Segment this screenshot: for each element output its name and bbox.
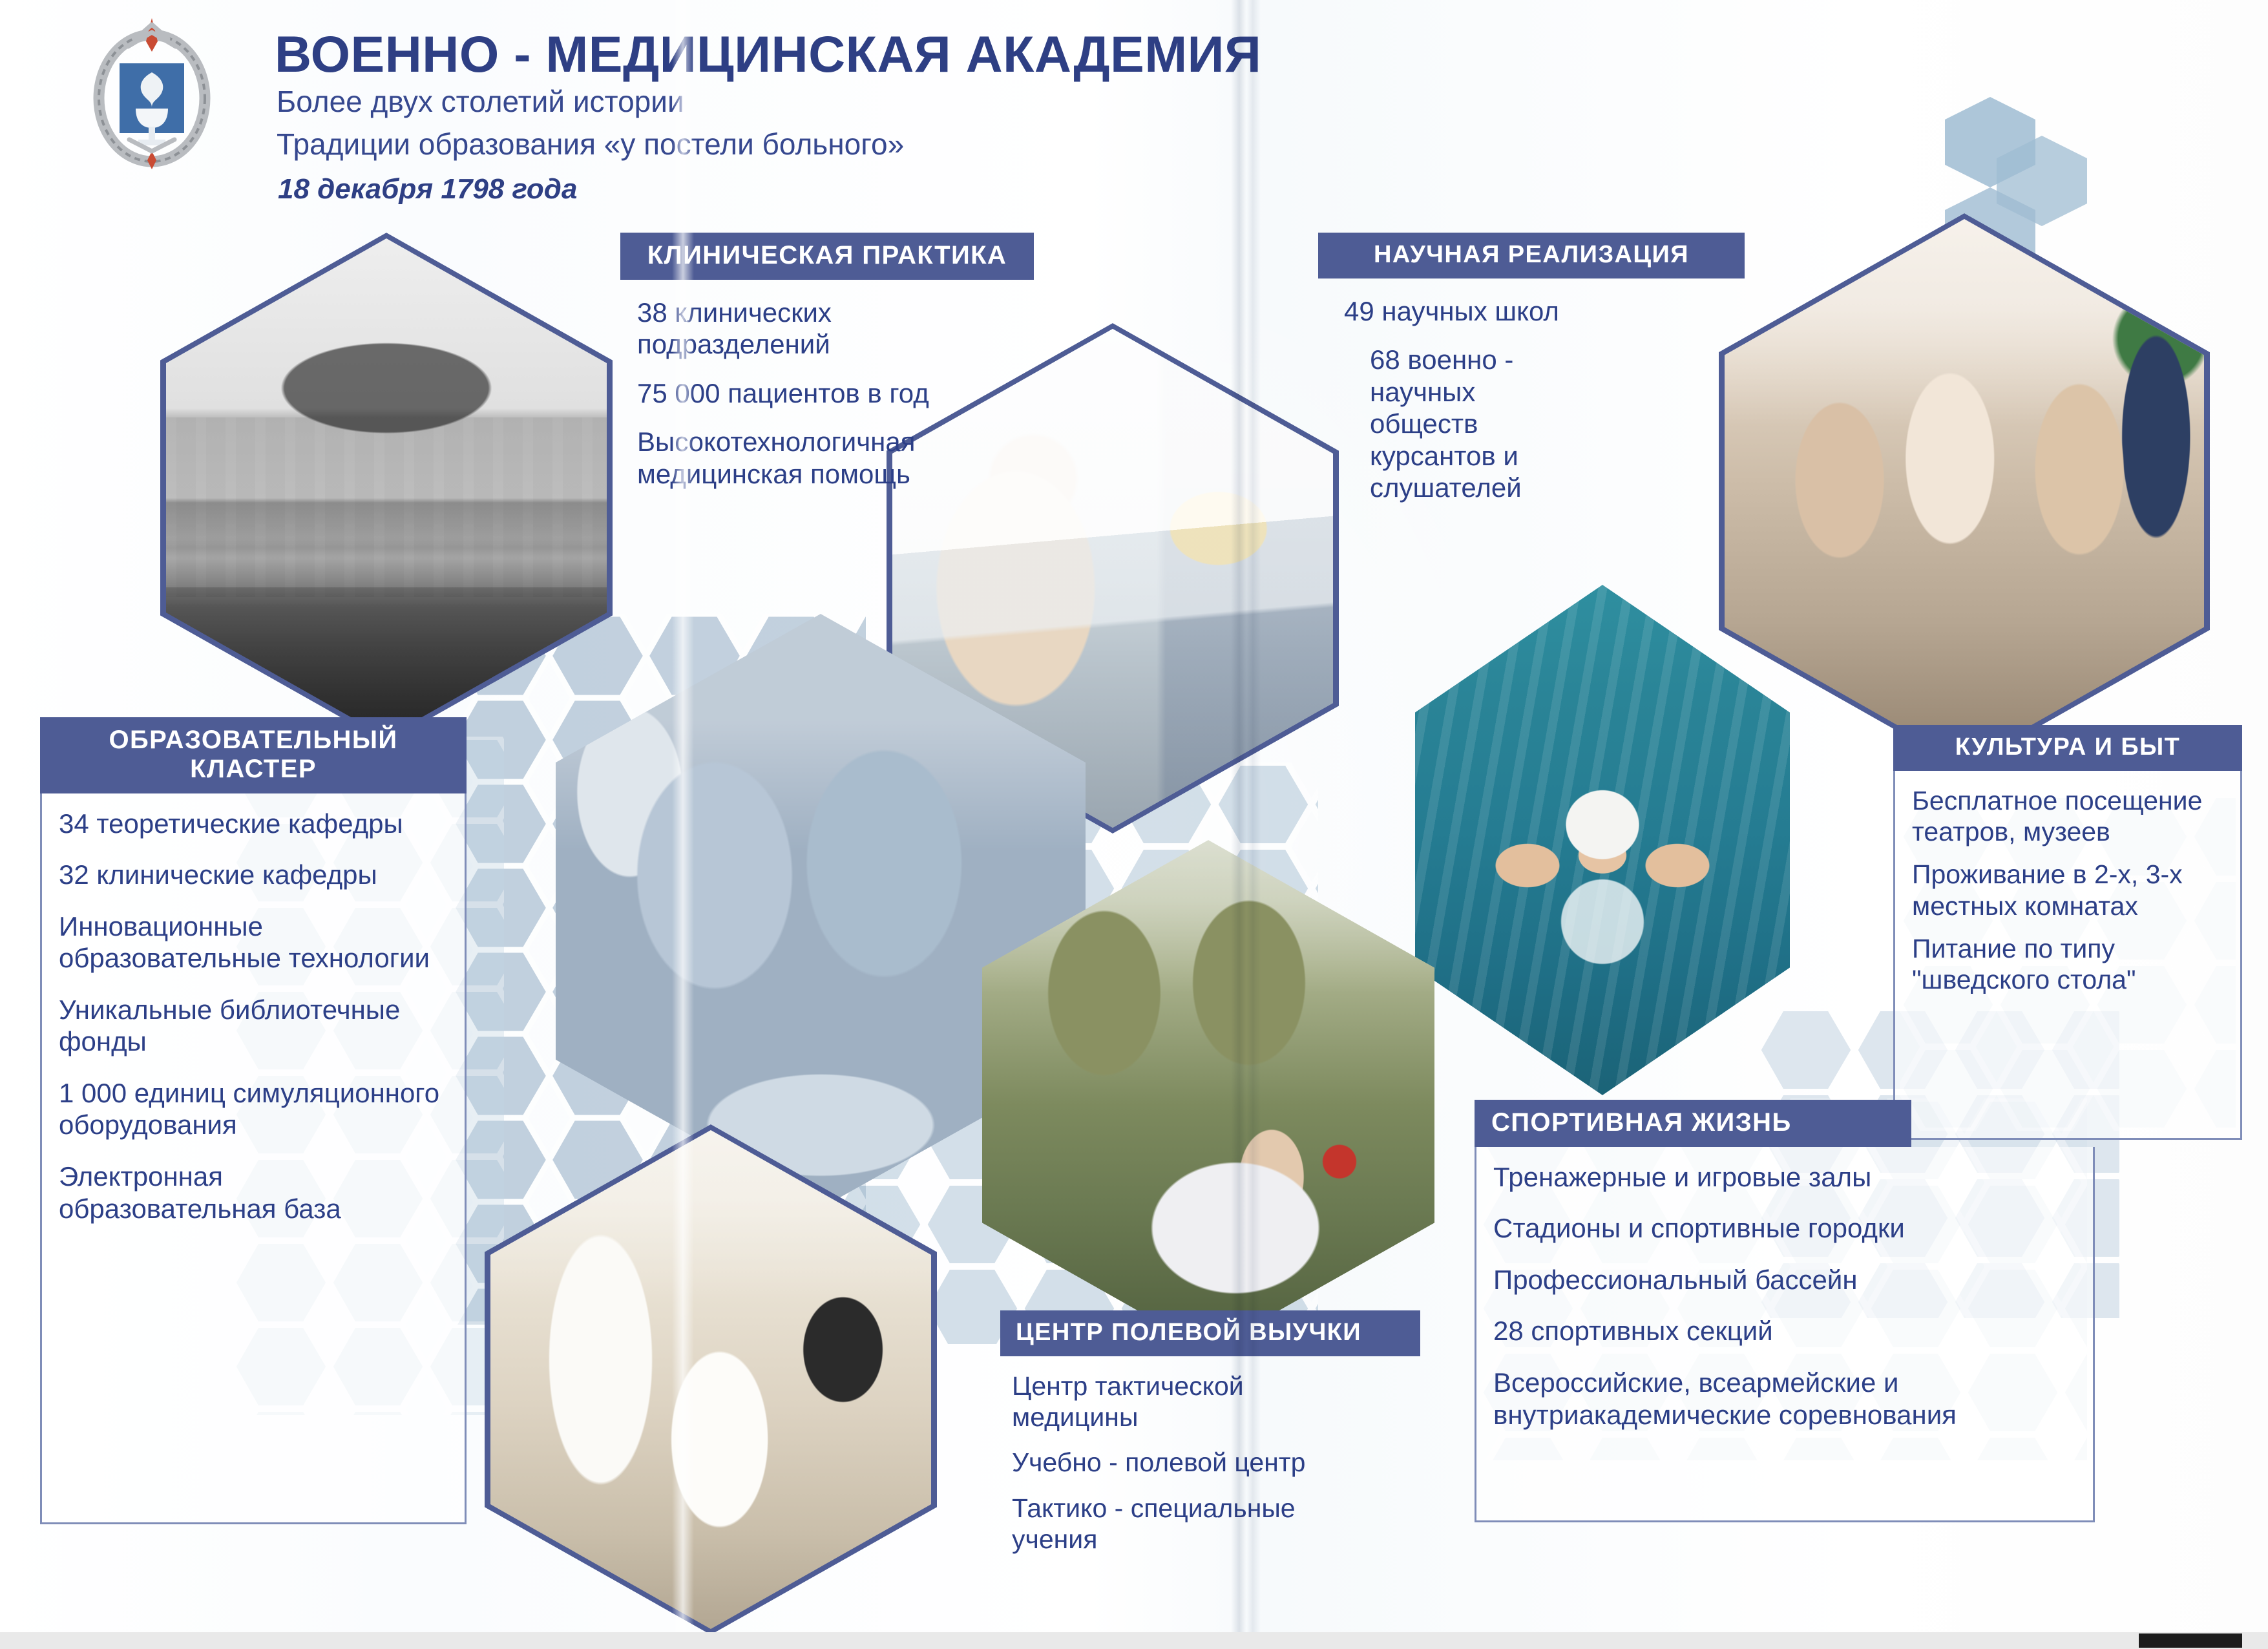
list-item: 49 научных школ [1344, 295, 1738, 328]
list-item: 34 теоретические кафедры [59, 808, 448, 840]
list-item: Всероссийские, всеармейские и внутриакад… [1493, 1367, 2030, 1431]
section-title-science: НАУЧНАЯ РЕАЛИЗАЦИЯ [1318, 233, 1745, 278]
list-item: Тактико - специальные учения [1012, 1493, 1322, 1555]
section-title-field: ЦЕНТР ПОЛЕВОЙ ВЫУЧКИ [1000, 1310, 1420, 1356]
section-title-culture: КУЛЬТУРА И БЫТ [1893, 725, 2242, 771]
photo-image [1725, 219, 2204, 763]
section-body-education: 34 теоретические кафедры 32 клинические … [40, 793, 467, 1524]
section-title-education-line2: КЛАСТЕР [190, 755, 317, 783]
list-item: Проживание в 2-х, 3-х местных комнатах [1912, 859, 2223, 921]
list-item: Электронная образовательная база [59, 1161, 448, 1224]
subtitle-history: Более двух столетий истории [277, 84, 684, 119]
photo-image [166, 238, 607, 737]
list-item: Профессиональный бассейн [1493, 1264, 2076, 1296]
poster-canvas: ВОЕННО - МЕДИЦИНСКАЯ АКАДЕМИЯ Более двух… [0, 0, 2268, 1649]
military-medical-academy-emblem [90, 13, 213, 174]
list-item: Бесплатное посещение театров, музеев [1912, 785, 2223, 848]
section-body-science: 49 научных школ 68 военно - научных обще… [1318, 278, 1745, 504]
section-educational-cluster: ОБРАЗОВАТЕЛЬНЫЙ КЛАСТЕР 34 теоретические… [40, 717, 467, 1524]
swimming-pool-athlete-photo [1415, 585, 1790, 1095]
list-item: 32 клинические кафедры [59, 859, 448, 891]
list-item: 1 000 единиц симуляционного оборудования [59, 1077, 448, 1141]
photo-image [490, 1130, 931, 1629]
section-body-field: Центр тактической медицины Учебно - поле… [1000, 1356, 1420, 1555]
list-item: 75 000 пациентов в год [637, 377, 1027, 410]
section-scientific-realization: НАУЧНАЯ РЕАЛИЗАЦИЯ 49 научных школ 68 во… [1318, 233, 1745, 504]
list-item: Инновационные образовательные технологии [59, 910, 448, 974]
section-body-sport: Тренажерные и игровые залы Стадионы и сп… [1475, 1147, 2095, 1522]
page-fold-left [672, 0, 694, 1649]
section-title-education-line1: ОБРАЗОВАТЕЛЬНЫЙ [109, 726, 397, 754]
list-item: Тренажерные и игровые залы [1493, 1161, 2076, 1193]
photo-image [1415, 585, 1790, 1095]
list-item: 38 клинических подразделений [637, 297, 1027, 361]
list-item: Учебно - полевой центр [1012, 1447, 1416, 1478]
founding-date: 18 декабря 1798 года [278, 173, 577, 205]
page-fold-center [1231, 0, 1261, 1649]
section-sport-life: СПОРТИВНАЯ ЖИЗНЬ Тренажерные и игровые з… [1475, 1100, 2095, 1522]
list-item: 28 спортивных секций [1493, 1315, 2076, 1347]
page-title: ВОЕННО - МЕДИЦИНСКАЯ АКАДЕМИЯ [275, 25, 1261, 84]
section-culture-and-living: КУЛЬТУРА И БЫТ Бесплатное посещение теат… [1893, 725, 2242, 1140]
list-item: Стадионы и спортивные городки [1493, 1212, 2076, 1245]
subtitle-tradition: Традиции образования «у постели больного… [277, 127, 904, 162]
graduation-ball-photo [1719, 213, 2210, 769]
section-body-culture: Бесплатное посещение театров, музеев Про… [1893, 771, 2242, 1140]
list-item: 68 военно - научных обществ курсантов и … [1370, 344, 1564, 504]
section-title-sport: СПОРТИВНАЯ ЖИЗНЬ [1475, 1100, 1911, 1147]
scan-black-marker [2139, 1633, 2242, 1648]
scan-bottom-edge [0, 1632, 2268, 1649]
endoscopy-simulation-training-photo [485, 1124, 937, 1635]
section-title-education: ОБРАЗОВАТЕЛЬНЫЙ КЛАСТЕР [40, 717, 467, 793]
section-field-training-center: ЦЕНТР ПОЛЕВОЙ ВЫУЧКИ Центр тактической м… [1000, 1310, 1420, 1569]
list-item: Питание по типу "шведского стола" [1912, 933, 2223, 996]
historic-academy-building-photo [160, 233, 613, 743]
list-item: Уникальные библиотечные фонды [59, 994, 448, 1058]
